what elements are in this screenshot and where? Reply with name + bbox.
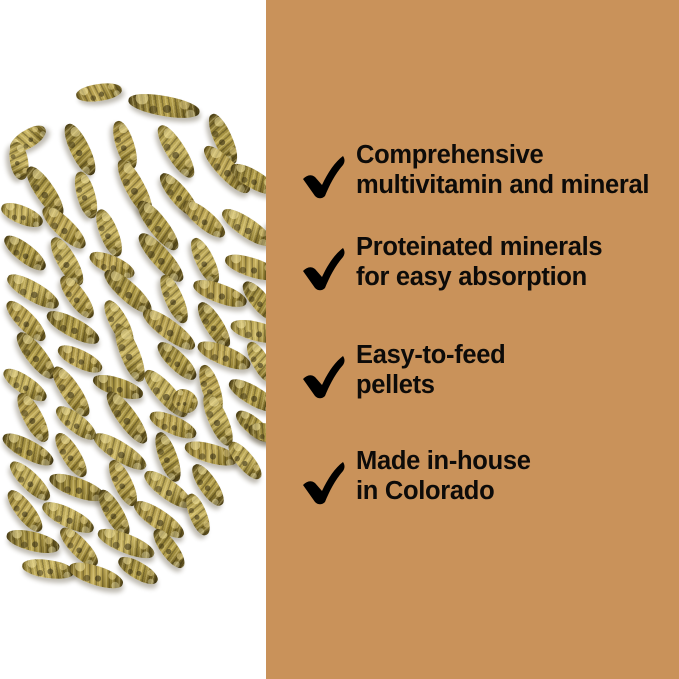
feed-pellet (0, 231, 50, 276)
feed-pellet (178, 195, 229, 242)
benefit-item-label: Comprehensive multivitamin and mineral (356, 140, 649, 200)
check-icon (300, 148, 348, 202)
check-icon (300, 454, 348, 508)
feed-pellet (75, 81, 123, 104)
feed-pellet (127, 90, 201, 122)
benefits-list: Comprehensive multivitamin and mineralPr… (300, 0, 679, 679)
product-benefits-image: Comprehensive multivitamin and mineralPr… (0, 0, 679, 679)
product-photo-panel (0, 0, 266, 679)
feed-pellet (0, 198, 46, 231)
benefit-item-3: Easy-to-feed pellets (300, 340, 505, 402)
benefit-item-4: Made in-house in Colorado (300, 446, 531, 508)
benefit-item-1: Comprehensive multivitamin and mineral (300, 140, 649, 202)
check-icon (300, 348, 348, 402)
benefit-item-2: Proteinated minerals for easy absorption (300, 232, 602, 294)
benefit-item-label: Made in-house in Colorado (356, 446, 531, 506)
check-icon (300, 240, 348, 294)
benefit-item-label: Proteinated minerals for easy absorption (356, 232, 602, 292)
benefit-item-label: Easy-to-feed pellets (356, 340, 505, 400)
feed-pellet (59, 120, 101, 179)
feed-pellet (21, 556, 75, 581)
feed-pellet (152, 121, 200, 182)
